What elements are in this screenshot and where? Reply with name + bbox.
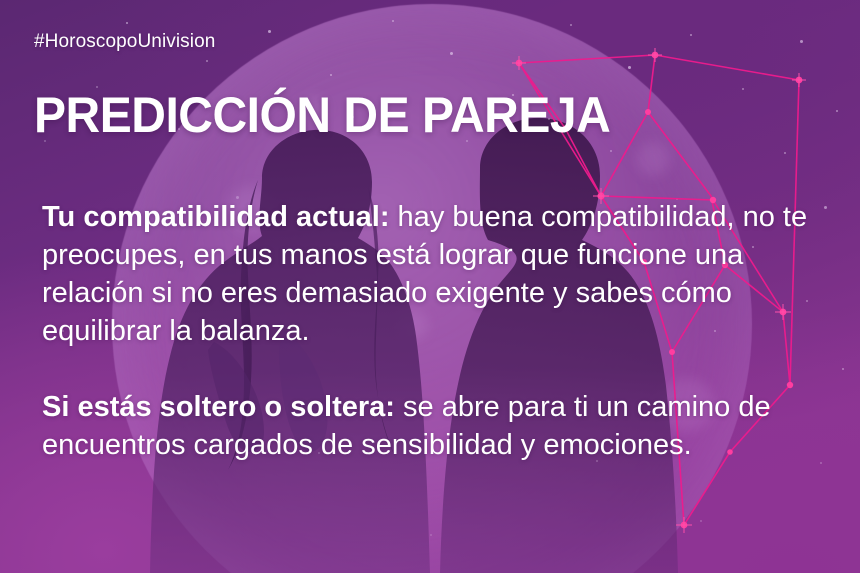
paragraph-compatibility-lead: Tu compatibilidad actual:: [42, 201, 390, 233]
content-layer: #HoroscopoUnivision PREDICCIÓN DE PAREJA…: [0, 0, 860, 573]
horoscope-prediction-card: #HoroscopoUnivision PREDICCIÓN DE PAREJA…: [0, 0, 860, 573]
paragraph-single-lead: Si estás soltero o soltera:: [42, 391, 395, 423]
page-title: PREDICCIÓN DE PAREJA: [34, 88, 610, 142]
paragraph-compatibility: Tu compatibilidad actual: hay buena comp…: [42, 198, 842, 350]
paragraph-single: Si estás soltero o soltera: se abre para…: [42, 388, 842, 464]
hashtag-label: #HoroscopoUnivision: [34, 31, 215, 53]
prediction-body: Tu compatibilidad actual: hay buena comp…: [42, 198, 842, 464]
